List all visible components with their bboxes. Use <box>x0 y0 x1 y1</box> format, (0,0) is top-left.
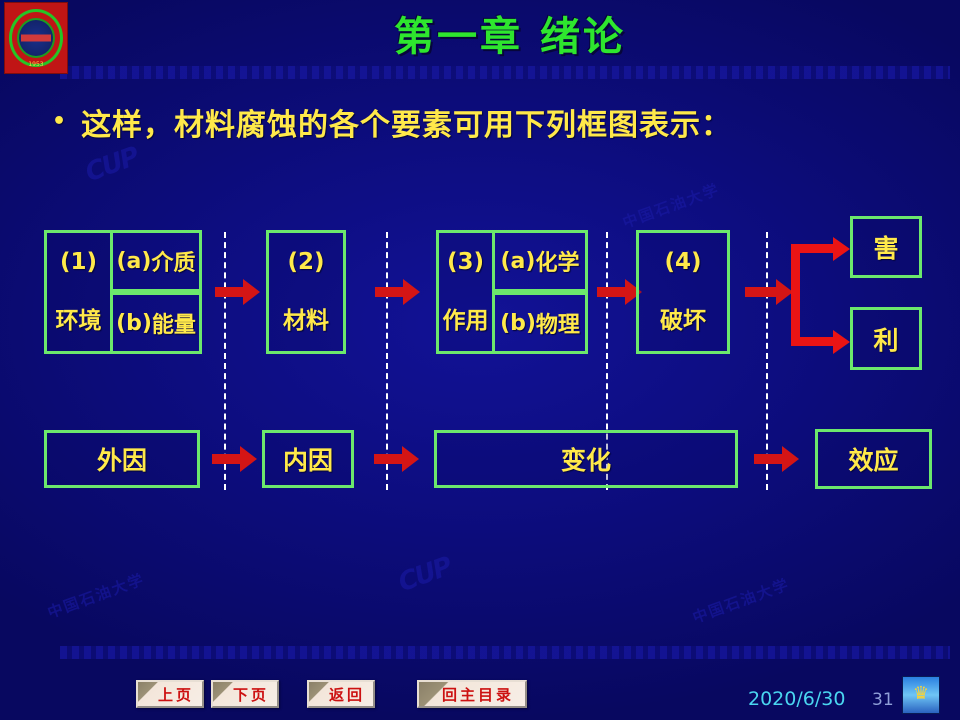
fork-arm-to-benefit <box>791 337 835 346</box>
nav-button-main-menu[interactable]: 回主目录 <box>417 680 527 708</box>
nav-button-label: 下页 <box>233 684 269 705</box>
box-label: 材料 <box>283 309 329 333</box>
cell-tag: (b) <box>500 311 536 336</box>
watermark-text: 中国石油大学 <box>689 573 792 628</box>
cup-torch-icon: ♛ <box>902 676 940 714</box>
diagram-cell-medium: (a)介质 <box>110 230 202 292</box>
cell-tag: (a) <box>501 249 536 274</box>
box-label: 害 <box>873 229 898 265</box>
cell-tag: (b) <box>116 311 152 336</box>
diagram-box-internal-cause: 内因 <box>262 430 354 488</box>
diagram-box-external-cause: 外因 <box>44 430 200 488</box>
fork-arm-to-hazard <box>791 244 835 253</box>
nav-button-back[interactable]: 返回 <box>307 680 375 708</box>
nav-button-next-page[interactable]: 下页 <box>211 680 279 708</box>
bullet-line: • 这样，材料腐蚀的各个要素可用下列框图表示： <box>52 100 732 144</box>
box-label: 利 <box>873 321 898 357</box>
box-label: 作用 <box>443 309 489 333</box>
bullet-marker-icon: • <box>52 111 67 133</box>
box-label: 内因 <box>283 441 333 477</box>
watermark-cup-icon: CUP <box>81 142 141 188</box>
bullet-text: 这样，材料腐蚀的各个要素可用下列框图表示： <box>81 100 732 144</box>
diagram-box-environment: (1) 环境 <box>44 230 110 354</box>
diagram-box-action: (3) 作用 <box>436 230 492 354</box>
separator-dashed-4 <box>766 232 768 490</box>
arrow-change-to-effect <box>754 454 784 464</box>
page-title: 第一章 绪论 <box>0 4 960 62</box>
arrow-4-to-fork <box>745 287 778 297</box>
diagram-cell-energy: (b)能量 <box>110 292 202 354</box>
diagram-box-damage: (4) 破坏 <box>636 230 730 354</box>
box-label: 外因 <box>97 441 147 477</box>
box-index: (4) <box>664 250 701 274</box>
cell-text: 物理 <box>536 307 580 339</box>
nav-button-label: 回主目录 <box>442 684 514 705</box>
arrow-2-to-3 <box>375 287 405 297</box>
diagram-cell-physical: (b)物理 <box>492 292 588 354</box>
box-label: 破坏 <box>660 309 706 333</box>
box-label: 效应 <box>848 441 898 477</box>
diagram-box-change: 变化 <box>434 430 738 488</box>
fork-vertical-bar <box>791 244 800 346</box>
cell-text: 能量 <box>152 307 196 339</box>
box-index: (1) <box>60 250 97 274</box>
diagram-cell-chemical: (a)化学 <box>492 230 588 292</box>
nav-button-prev-page[interactable]: 上页 <box>136 680 204 708</box>
nav-button-label: 返回 <box>329 684 365 705</box>
header-decorative-band <box>60 66 950 79</box>
box-label: 变化 <box>561 441 611 477</box>
slide-canvas: CUP CUP 中国石油大学 中国石油大学 中国石油大学 1953 第一章 绪论… <box>0 0 960 720</box>
footer-decorative-band <box>60 646 950 659</box>
cell-text: 化学 <box>535 245 579 277</box>
arrow-external-to-internal <box>212 454 242 464</box>
separator-dashed-2 <box>386 232 388 490</box>
watermark-text: 中国石油大学 <box>619 178 722 233</box>
box-index: (2) <box>287 250 324 274</box>
cell-tag: (a) <box>117 249 152 274</box>
arrow-1-to-2 <box>215 287 245 297</box>
diagram-box-hazard: 害 <box>850 216 922 278</box>
watermark-cup-icon: CUP <box>394 552 454 598</box>
box-index: (3) <box>447 250 484 274</box>
separator-dashed-1 <box>224 232 226 490</box>
torch-glyph: ♛ <box>913 685 929 703</box>
nav-button-label: 上页 <box>158 684 194 705</box>
diagram-box-benefit: 利 <box>850 307 922 370</box>
slide-page-number: 31 <box>872 690 894 710</box>
logo-year: 1953 <box>5 61 67 68</box>
slide-date: 2020/6/30 <box>748 688 845 710</box>
box-label: 环境 <box>56 309 102 333</box>
cell-text: 介质 <box>151 245 195 277</box>
arrow-internal-to-change <box>374 454 404 464</box>
diagram-box-material: (2) 材料 <box>266 230 346 354</box>
diagram-box-effect: 效应 <box>815 429 932 489</box>
watermark-text: 中国石油大学 <box>44 568 147 623</box>
arrow-3-to-4 <box>597 287 627 297</box>
